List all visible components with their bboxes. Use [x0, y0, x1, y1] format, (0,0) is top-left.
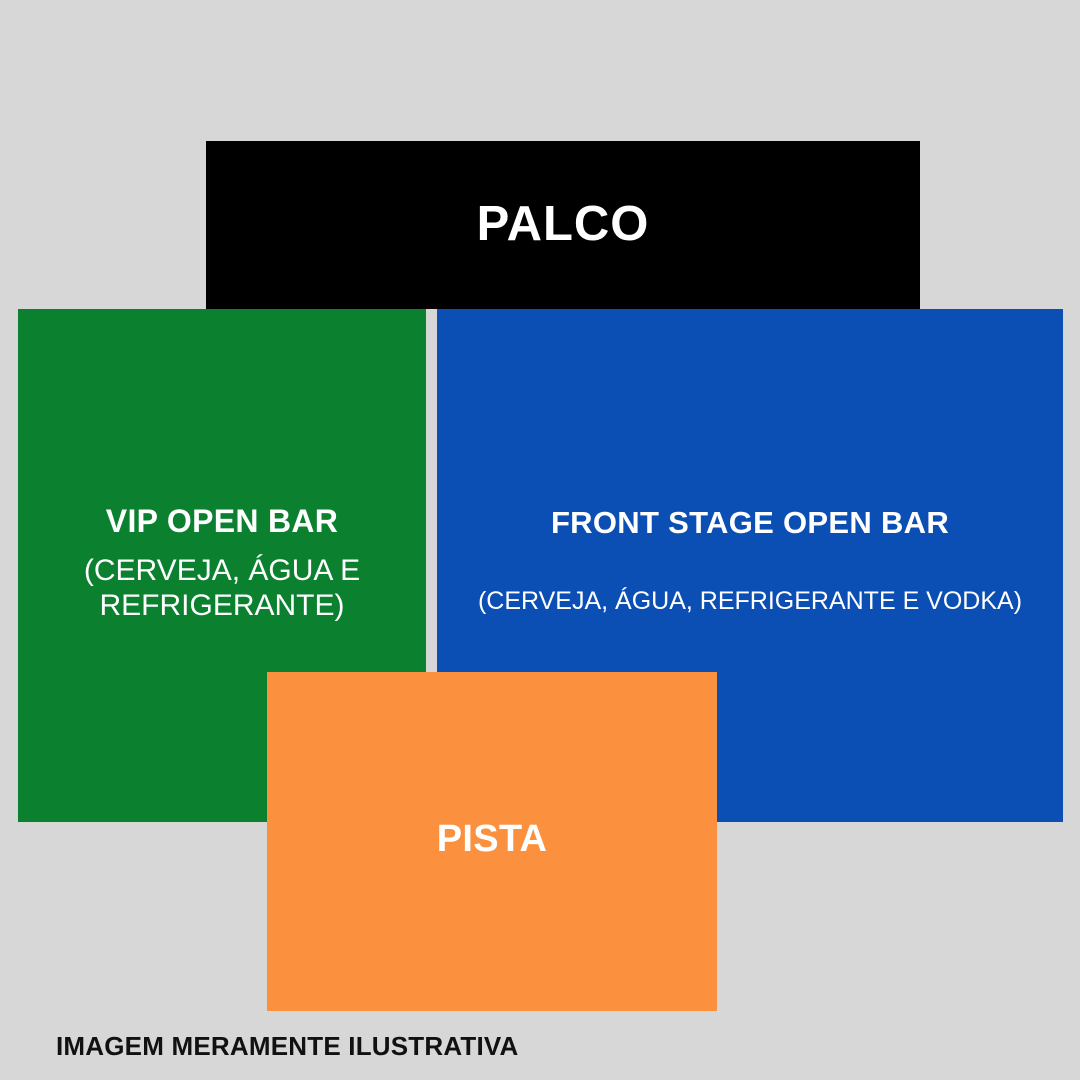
zone-front-stage-open-bar-title: FRONT STAGE OPEN BAR	[551, 507, 949, 540]
venue-map: PALCO VIP OPEN BAR (CERVEJA, ÁGUA E REFR…	[0, 0, 1080, 1080]
disclaimer-text: IMAGEM MERAMENTE ILUSTRATIVA	[56, 1031, 519, 1062]
zone-pista[interactable]: PISTA	[267, 672, 717, 1011]
zone-front-stage-open-bar-subtitle: (CERVEJA, ÁGUA, REFRIGERANTE E VODKA)	[478, 587, 1022, 617]
zone-pista-title: PISTA	[437, 820, 548, 860]
zone-vip-open-bar-subtitle: (CERVEJA, ÁGUA E REFRIGERANTE)	[82, 553, 362, 624]
zone-stage[interactable]: PALCO	[206, 141, 920, 309]
zone-stage-title: PALCO	[477, 199, 650, 250]
zone-vip-open-bar-title: VIP OPEN BAR	[106, 505, 338, 539]
